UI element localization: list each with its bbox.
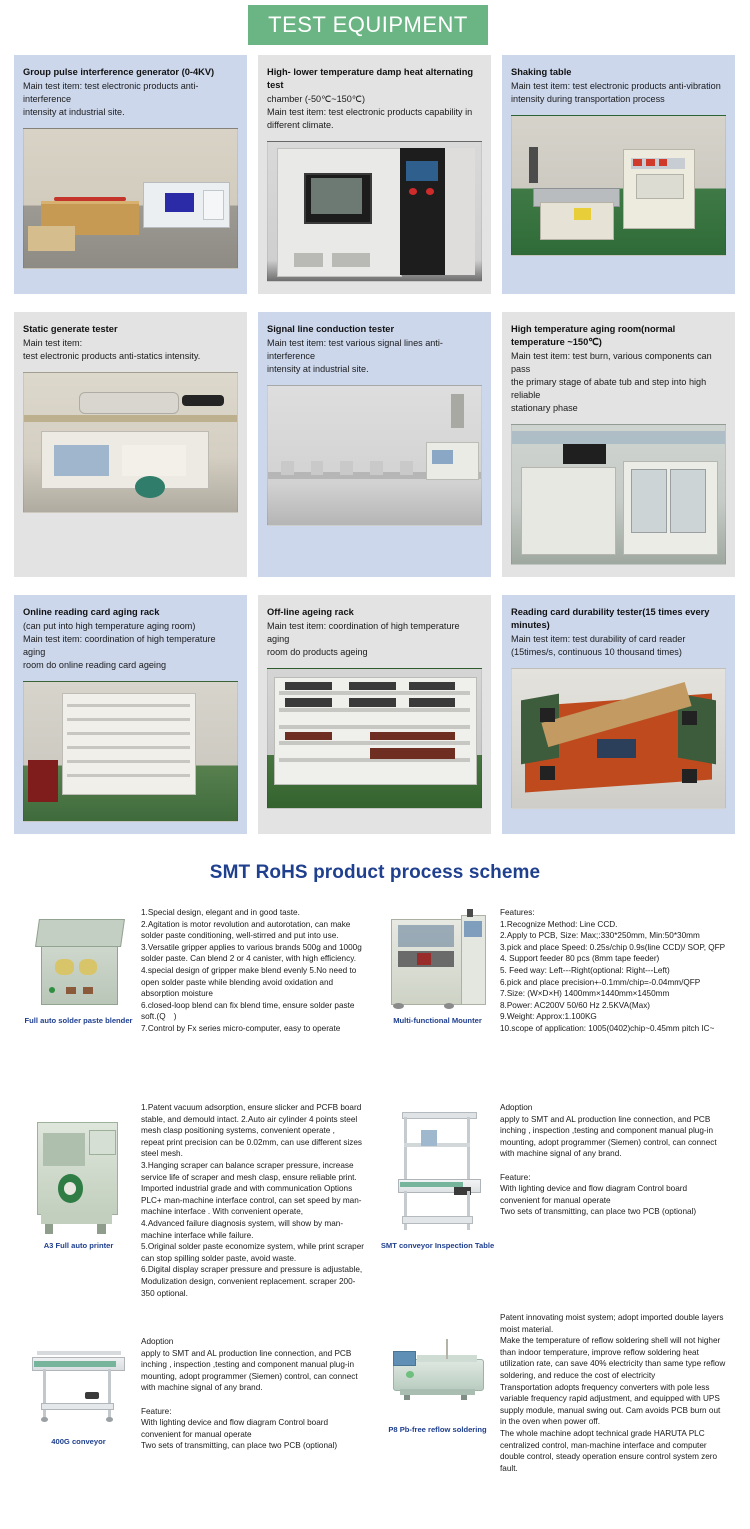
card-title: High temperature aging room(normal tempe… [511, 323, 726, 349]
smt-figure: 400G conveyor [16, 1310, 141, 1474]
card-description: Main test item: test various signal line… [267, 337, 482, 376]
smt-figure: P8 Pb-free reflow soldering [375, 1310, 500, 1474]
equipment-card-shaking-table[interactable]: Shaking table Main test item: test elect… [502, 55, 735, 294]
a3-full-auto-printer-image [26, 1104, 131, 1234]
group-pulse-interference-generator-photo [23, 128, 238, 269]
smt-row: 400G conveyor Adoption apply to SMT and … [0, 1310, 750, 1474]
equipment-card-damp-heat-alternating-test-chamber[interactable]: High- lower temperature damp heat altern… [258, 55, 491, 294]
card-description: Main test item: test electronic products… [23, 80, 238, 119]
card-description: Main test item: coordination of high tem… [267, 620, 482, 659]
card-title: High- lower temperature damp heat altern… [267, 66, 482, 92]
equipment-card-high-temperature-aging-room[interactable]: High temperature aging room(normal tempe… [502, 312, 735, 577]
smt-figure: A3 Full auto printer [16, 1100, 141, 1299]
smt-figure: Multi-functional Mounter [375, 905, 500, 1035]
full-auto-solder-paste-blender-image [26, 909, 131, 1009]
card-title: Group pulse interference generator (0-4K… [23, 66, 238, 79]
page-title-banner: TEST EQUIPMENT [248, 5, 488, 45]
smt-caption: 400G conveyor [51, 1437, 105, 1447]
smt-description: Features: 1.Recognize Method: Line CCD. … [500, 905, 734, 1035]
test-equipment-grid: Group pulse interference generator (0-4K… [0, 55, 750, 852]
smt-description: Adoption apply to SMT and AL production … [141, 1310, 375, 1474]
smt-item-a3-full-auto-printer[interactable]: A3 Full auto printer 1.Patent vacuum ads… [16, 1100, 375, 1299]
card-title: Signal line conduction tester [267, 323, 482, 336]
equipment-card-off-line-ageing-rack[interactable]: Off-line ageing rack Main test item: coo… [258, 595, 491, 834]
card-title: Reading card durability tester(15 times … [511, 606, 726, 632]
signal-line-conduction-tester-photo [267, 385, 482, 526]
high-temperature-aging-room-photo [511, 424, 726, 565]
card-title: Static generate tester [23, 323, 238, 336]
equipment-card-online-reading-card-aging-rack[interactable]: Online reading card aging rack (can put … [14, 595, 247, 834]
equipment-card-static-generate-tester[interactable]: Static generate tester Main test item: t… [14, 312, 247, 577]
damp-heat-alternating-test-chamber-photo [267, 141, 482, 282]
off-line-ageing-rack-photo [267, 668, 482, 809]
card-description: Main test item: test electronic products… [23, 337, 238, 363]
equipment-card-signal-line-conduction-tester[interactable]: Signal line conduction tester Main test … [258, 312, 491, 577]
card-title: Shaking table [511, 66, 726, 79]
smt-figure: SMT conveyor Inspection Table [375, 1100, 500, 1299]
card-title: Off-line ageing rack [267, 606, 482, 619]
card-description: Main test item: test electronic products… [511, 80, 726, 106]
static-generate-tester-photo [23, 372, 238, 513]
card-row: Group pulse interference generator (0-4K… [0, 55, 750, 294]
smt-description: Patent innovating moist system; adopt im… [500, 1310, 734, 1474]
card-description: Main test item: test durability of card … [511, 633, 726, 659]
smt-caption: SMT conveyor Inspection Table [381, 1241, 494, 1251]
smt-description: 1.Special design, elegant and in good ta… [141, 905, 375, 1035]
smt-caption: P8 Pb-free reflow soldering [388, 1425, 486, 1435]
equipment-card-group-pulse-interference-generator[interactable]: Group pulse interference generator (0-4K… [14, 55, 247, 294]
smt-description: Adoption apply to SMT and AL production … [500, 1100, 734, 1299]
smt-item-400g-conveyor[interactable]: 400G conveyor Adoption apply to SMT and … [16, 1310, 375, 1474]
reading-card-durability-tester-photo [511, 668, 726, 809]
card-description: chamber (-50℃~150℃) Main test item: test… [267, 93, 482, 132]
smt-item-p8-pb-free-reflow-soldering[interactable]: P8 Pb-free reflow soldering Patent innov… [375, 1310, 734, 1474]
conveyor-400g-image [26, 1334, 131, 1430]
multi-functional-mounter-image [385, 909, 490, 1009]
online-reading-card-aging-rack-photo [23, 681, 238, 822]
p8-pb-free-reflow-soldering-image [385, 1328, 490, 1418]
smt-caption: Full auto solder paste blender [24, 1016, 132, 1026]
card-row: Online reading card aging rack (can put … [0, 595, 750, 834]
smt-description: 1.Patent vacuum adsorption, ensure slick… [141, 1100, 375, 1299]
card-description: Main test item: test burn, various compo… [511, 350, 726, 415]
smt-caption: Multi-functional Mounter [393, 1016, 482, 1026]
smt-caption: A3 Full auto printer [44, 1241, 114, 1251]
page-title: TEST EQUIPMENT [268, 12, 468, 38]
card-description: (can put into high temperature aging roo… [23, 620, 238, 672]
smt-row: Full auto solder paste blender 1.Special… [0, 905, 750, 1035]
smt-row: A3 Full auto printer 1.Patent vacuum ads… [0, 1100, 750, 1299]
smt-item-full-auto-solder-paste-blender[interactable]: Full auto solder paste blender 1.Special… [16, 905, 375, 1035]
smt-item-multi-functional-mounter[interactable]: Multi-functional Mounter Features: 1.Rec… [375, 905, 734, 1035]
card-row: Static generate tester Main test item: t… [0, 312, 750, 577]
smt-figure: Full auto solder paste blender [16, 905, 141, 1035]
shaking-table-photo [511, 115, 726, 256]
card-title: Online reading card aging rack [23, 606, 238, 619]
smt-item-smt-conveyor-inspection-table[interactable]: SMT conveyor Inspection Table Adoption a… [375, 1100, 734, 1299]
smt-conveyor-inspection-table-image [385, 1104, 490, 1234]
equipment-card-reading-card-durability-tester[interactable]: Reading card durability tester(15 times … [502, 595, 735, 834]
smt-section-title: SMT RoHS product process scheme [0, 862, 750, 884]
